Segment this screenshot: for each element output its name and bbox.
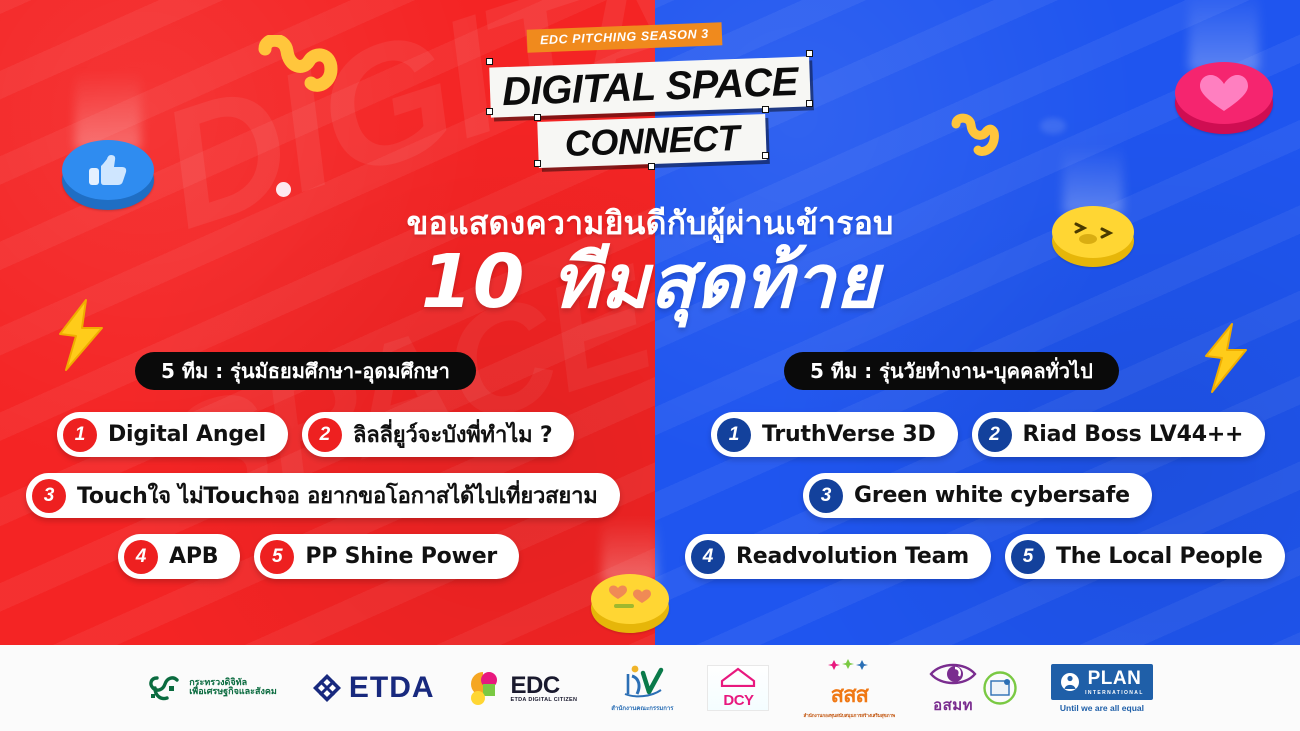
- mdes-label: กระทรวงดิจิทัล เพื่อเศรษฐกิจและสังคม: [189, 679, 277, 698]
- logo-handle-icon: [486, 58, 493, 65]
- dcy-label: DCY: [718, 692, 758, 709]
- logo-handle-icon: [806, 50, 813, 57]
- thumbs-up-icon: [62, 140, 154, 200]
- team-name: Readvolution Team: [736, 544, 969, 569]
- team-name: APB: [169, 544, 218, 569]
- like-coin-decoration: [62, 140, 154, 200]
- edc-name: EDC: [511, 673, 578, 698]
- dcy-house-icon: [718, 667, 758, 687]
- team-row-right-1: 1 TruthVerse 3D 2 Riad Boss LV44++: [711, 412, 1265, 457]
- plan-tagline: Until we are all equal: [1051, 703, 1153, 713]
- edc-mark-icon: [469, 670, 505, 706]
- edc-label: EDC ETDA DIGITAL CITIZEN: [511, 673, 578, 704]
- logo-handle-icon: [534, 160, 541, 167]
- office-label: สำนักงานคณะกรรมการ: [611, 703, 673, 713]
- team-pill[interactable]: 4 Readvolution Team: [685, 534, 991, 579]
- logo-etda: ETDA: [311, 662, 435, 714]
- team-row-right-3: 4 Readvolution Team 5 The Local People: [685, 534, 1285, 579]
- team-pill[interactable]: 2 Riad Boss LV44++: [972, 412, 1266, 457]
- team-number-badge: 1: [717, 418, 751, 452]
- logo-handle-icon: [806, 100, 813, 107]
- team-pill[interactable]: 5 PP Shine Power: [254, 534, 519, 579]
- heart-eyes-face-icon: [591, 574, 669, 624]
- team-pill[interactable]: 5 The Local People: [1005, 534, 1285, 579]
- poster-canvas: DIGITAL SPACE SPACE CONNECT: [0, 0, 1300, 731]
- category-badge-right: 5 ทีม : รุ่นวัยทำงาน-บุคคลทั่วไป: [784, 352, 1119, 390]
- logo-edc: EDC ETDA DIGITAL CITIZEN: [469, 662, 578, 714]
- team-name: Digital Angel: [108, 422, 266, 447]
- logo-thaihealth: สสส สำนักงานกองทุนสนับสนุนการสร้างเสริมส…: [803, 662, 895, 714]
- team-pill[interactable]: 4 APB: [118, 534, 240, 579]
- mcot-label: อสมท: [929, 693, 977, 717]
- logo-handle-icon: [534, 114, 541, 121]
- white-dot-decoration: [276, 182, 291, 197]
- logo-office: สำนักงานคณะกรรมการ: [611, 662, 673, 714]
- logo-handle-icon: [762, 106, 769, 113]
- team-number-badge: 4: [124, 540, 158, 574]
- team-number-badge: 1: [63, 418, 97, 452]
- thaihealth-label: สสส: [803, 677, 895, 712]
- logo-dcy: DCY: [707, 665, 769, 711]
- team-number-badge: 2: [308, 418, 342, 452]
- team-pill[interactable]: 3 Touchใจ ไม่Touchจอ อยากขอโอกาสได้ไปเที…: [26, 473, 620, 518]
- etda-mark-icon: [311, 672, 343, 704]
- team-name: Riad Boss LV44++: [1023, 422, 1244, 447]
- team-number-badge: 2: [978, 418, 1012, 452]
- headline-main: 10 ทีมสุดท้าย: [0, 244, 1300, 322]
- edc-subtitle: ETDA DIGITAL CITIZEN: [511, 698, 578, 704]
- team-pill[interactable]: 2 ลิลลี่ยูว์จะบังพี่ทำไม ?: [302, 412, 574, 457]
- event-logo-lockup: EDC PITCHING SEASON 3 DIGITAL SPACE CONN…: [480, 26, 810, 166]
- plan-subtitle: INTERNATIONAL: [1085, 690, 1144, 696]
- logo-title-line2: CONNECT: [537, 114, 766, 168]
- logo-handle-icon: [762, 152, 769, 159]
- team-name: The Local People: [1056, 544, 1263, 569]
- team-row-left-1: 1 Digital Angel 2 ลิลลี่ยูว์จะบังพี่ทำไม…: [57, 412, 574, 457]
- team-pill[interactable]: 1 TruthVerse 3D: [711, 412, 958, 457]
- logo-plan: PLAN INTERNATIONAL Until we are all equa…: [1051, 662, 1153, 714]
- coin-glow: [75, 71, 141, 149]
- heart-icon: [1175, 62, 1273, 124]
- squiggle-yellow-decoration: [255, 35, 341, 110]
- coin-glow: [602, 517, 658, 582]
- team-number-badge: 3: [809, 479, 843, 513]
- heart-coin-decoration: [1175, 62, 1273, 124]
- plan-mark-icon: [1060, 672, 1080, 692]
- team-row-right-2: 3 Green white cybersafe: [803, 473, 1152, 518]
- team-name: TruthVerse 3D: [762, 422, 936, 447]
- logo-handle-icon: [648, 163, 655, 170]
- logo-mdes: กระทรวงดิจิทัล เพื่อเศรษฐกิจและสังคม: [147, 662, 277, 714]
- heart-eyes-emoji-coin-decoration: [591, 574, 669, 624]
- coin-glow: [1189, 0, 1260, 71]
- team-number-badge: 5: [1011, 540, 1045, 574]
- plan-badge: PLAN INTERNATIONAL: [1051, 664, 1153, 700]
- lightning-bolt-right-decoration: [1198, 322, 1254, 399]
- team-number-badge: 3: [32, 479, 66, 513]
- team-name: PP Shine Power: [305, 544, 497, 569]
- logo-mcot: อสมท: [929, 662, 1017, 714]
- mcot-partner-icon: [983, 671, 1017, 705]
- team-name: Touchใจ ไม่Touchจอ อยากขอโอกาสได้ไปเที่ย…: [77, 478, 598, 513]
- team-name: Green white cybersafe: [854, 483, 1130, 508]
- mcot-eye-icon: [929, 660, 977, 688]
- squiggle-blue-decoration: [948, 112, 1000, 173]
- team-number-badge: 4: [691, 540, 725, 574]
- season-tag: EDC PITCHING SEASON 3: [527, 22, 723, 52]
- team-name: ลิลลี่ยูว์จะบังพี่ทำไม ?: [353, 417, 552, 452]
- team-pill[interactable]: 1 Digital Angel: [57, 412, 288, 457]
- category-badge-left: 5 ทีม : รุ่นมัธยมศึกษา-อุดมศึกษา: [135, 352, 476, 390]
- thaihealth-stars-icon: [826, 658, 872, 672]
- faint-blue-blob-decoration: [1040, 118, 1066, 134]
- mdes-mark-icon: [147, 672, 183, 704]
- team-number-badge: 5: [260, 540, 294, 574]
- team-row-left-3: 4 APB 5 PP Shine Power: [118, 534, 519, 579]
- thaihealth-subtitle: สำนักงานกองทุนสนับสนุนการสร้างเสริมสุขภา…: [803, 712, 895, 719]
- plan-label: PLAN: [1085, 668, 1144, 690]
- mdes-line2: เพื่อเศรษฐกิจและสังคม: [189, 688, 277, 697]
- logo-handle-icon: [486, 108, 493, 115]
- office-mark-icon: [619, 664, 665, 698]
- sponsor-logo-bar: กระทรวงดิจิทัล เพื่อเศรษฐกิจและสังคม ETD…: [0, 645, 1300, 731]
- team-pill[interactable]: 3 Green white cybersafe: [803, 473, 1152, 518]
- team-row-left-2: 3 Touchใจ ไม่Touchจอ อยากขอโอกาสได้ไปเที…: [26, 473, 620, 518]
- etda-label: ETDA: [349, 671, 435, 705]
